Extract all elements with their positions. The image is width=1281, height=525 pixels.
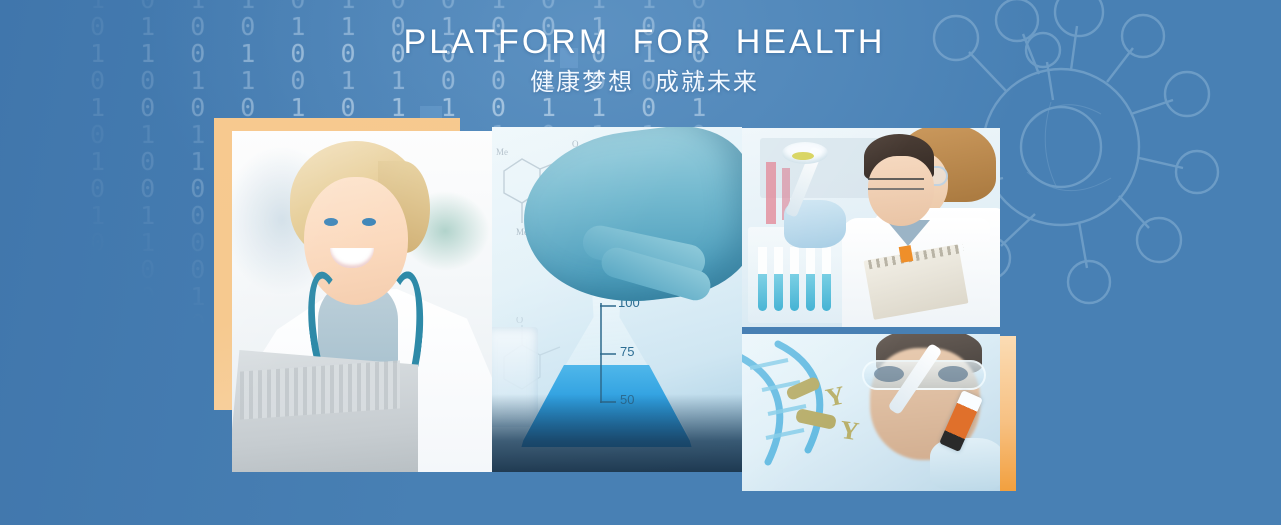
photo-doctor-at-computer [232, 131, 494, 472]
photo-gloved-hand-with-flask: Me O OH Me O [492, 127, 742, 472]
photo-two-scientists [742, 128, 1000, 327]
health-platform-banner: 1 0 1 1 0 1 0 0 1 0 1 1 0 0 1 0 1 0 1 0 … [0, 0, 1281, 525]
photo-collage: Me O OH Me O [0, 0, 1281, 525]
photo-researcher-dna-sample: Y Y [742, 334, 1000, 491]
